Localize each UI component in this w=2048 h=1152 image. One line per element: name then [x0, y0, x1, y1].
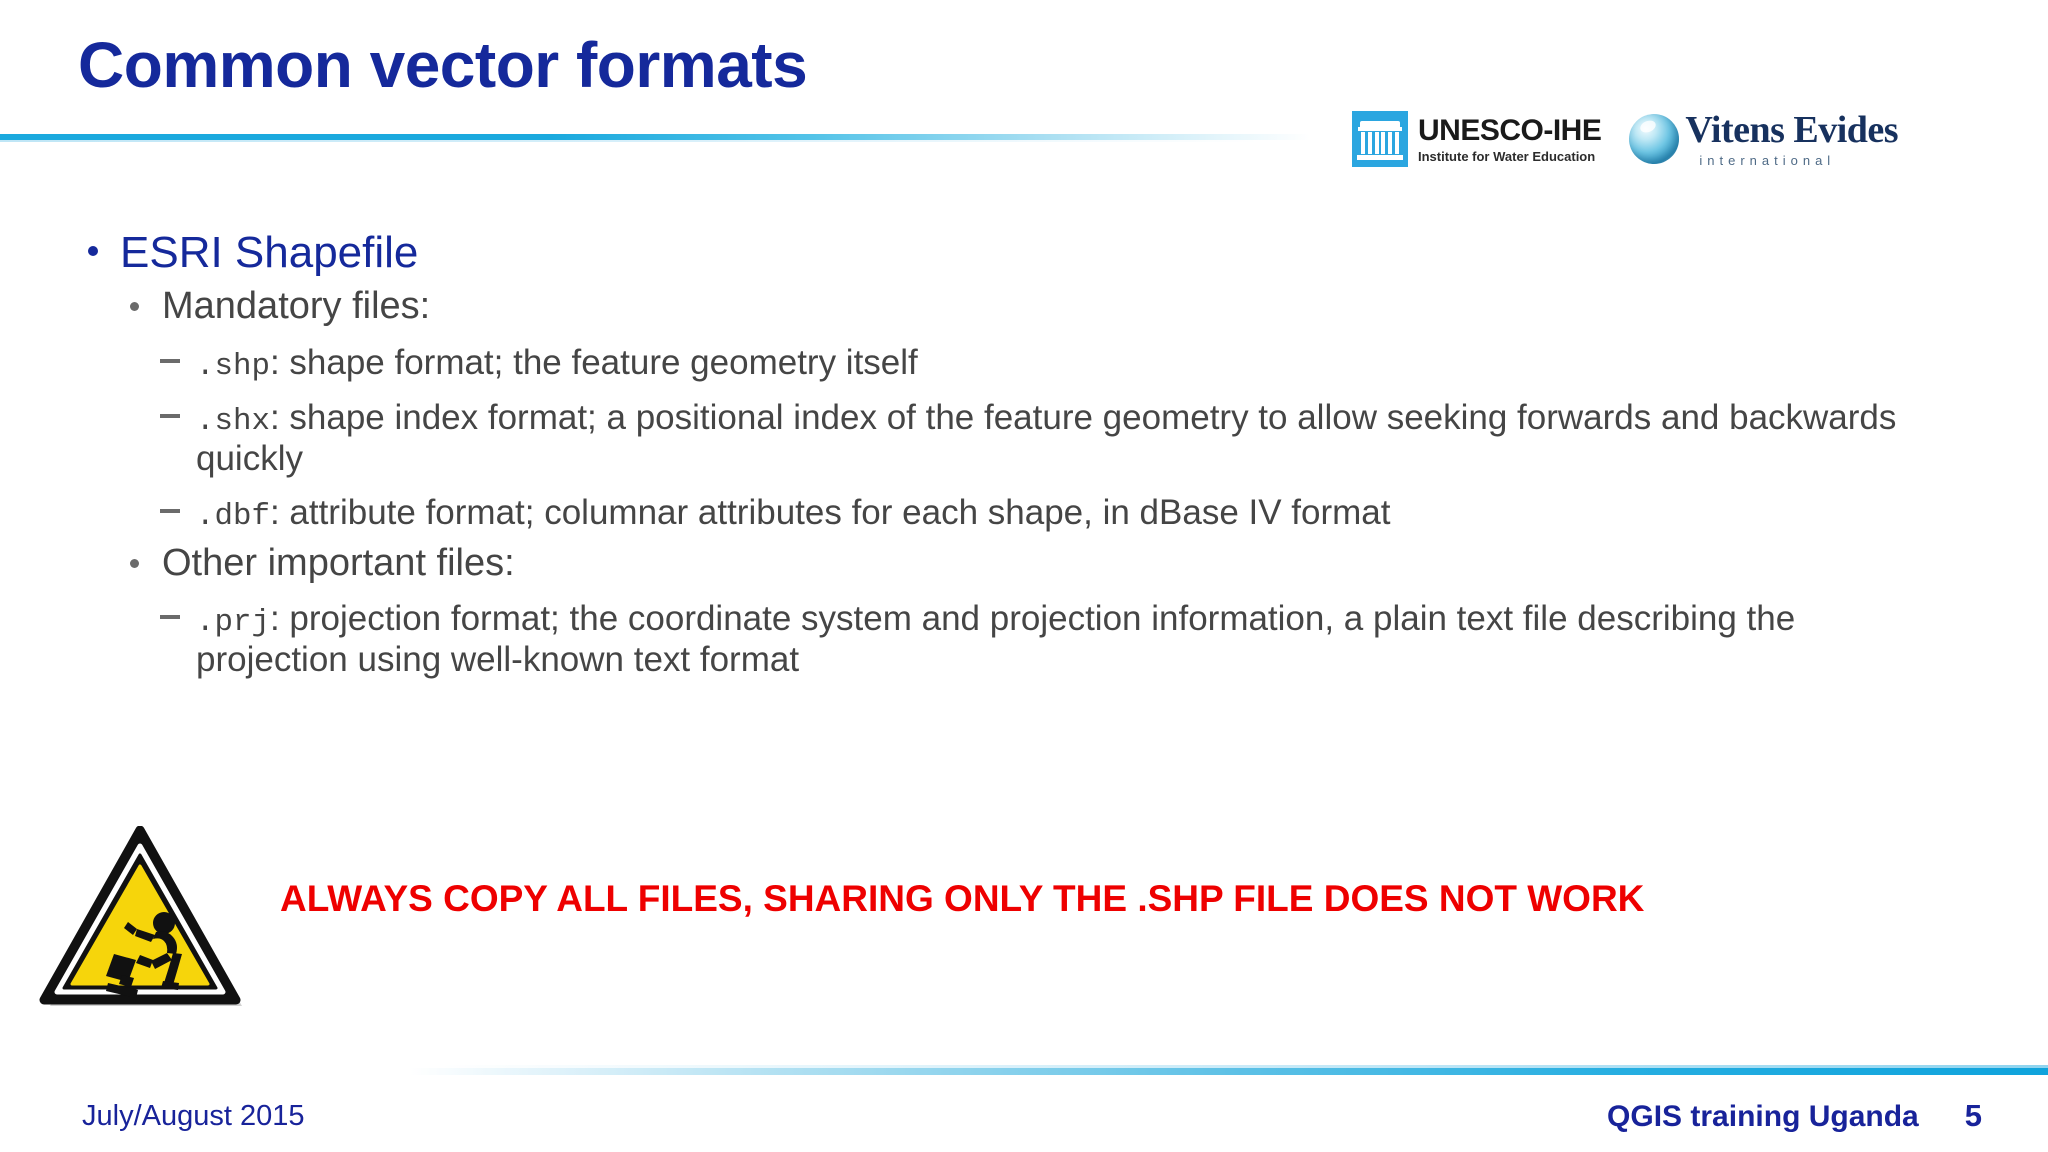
- vitens-name: Vitens Evides: [1685, 111, 1898, 149]
- bullet-other-important-files-label: Other important files:: [162, 542, 515, 584]
- shx-description: : shape index format; a positional index…: [196, 398, 1896, 478]
- footer-divider: [410, 1068, 2048, 1075]
- warning-triangle-icon: [36, 826, 248, 1018]
- warning-message: ALWAYS COPY ALL FILES, SHARING ONLY THE …: [280, 878, 1644, 921]
- dash-icon: [160, 615, 180, 619]
- bullet-shp: .shp: shape format; the feature geometry…: [78, 343, 1898, 384]
- globe-icon: [1629, 114, 1679, 164]
- shp-extension: .shp: [196, 349, 270, 384]
- warning-block: ALWAYS COPY ALL FILES, SHARING ONLY THE …: [36, 826, 1916, 1018]
- bullet-other-important-files: Other important files:: [78, 542, 1898, 585]
- unesco-subtitle: Institute for Water Education: [1418, 150, 1601, 163]
- dbf-extension: .dbf: [196, 499, 270, 534]
- unesco-temple-icon: [1352, 111, 1408, 167]
- shp-description: : shape format; the feature geometry its…: [270, 343, 918, 382]
- dash-icon: [160, 359, 180, 363]
- bullet-esri-shapefile-label: ESRI Shapefile: [120, 228, 418, 277]
- vitens-evides-logo: Vitens Evides international: [1629, 111, 1898, 167]
- logo-band: UNESCO-IHE Institute for Water Education…: [1352, 100, 2032, 178]
- shx-extension: .shx: [196, 404, 270, 439]
- bullet-dot-icon: [130, 559, 139, 568]
- header-divider: [0, 134, 1310, 140]
- unesco-wordmark: UNESCO-IHE Institute for Water Education: [1418, 116, 1601, 163]
- bullet-prj: .prj: projection format; the coordinate …: [78, 599, 1898, 680]
- bullet-shx: .shx: shape index format; a positional i…: [78, 398, 1898, 479]
- bullet-mandatory-files-label: Mandatory files:: [162, 285, 430, 327]
- dash-icon: [160, 414, 180, 418]
- unesco-ihe-logo: UNESCO-IHE Institute for Water Education: [1352, 111, 1601, 167]
- slide-root: Common vector formats UNESCO-IHE Institu…: [0, 0, 2048, 1152]
- footer-course-title: QGIS training Uganda: [1607, 1100, 1919, 1134]
- vitens-subtitle: international: [1699, 154, 1898, 167]
- bullet-dot-icon: [130, 302, 139, 311]
- footer-date: July/August 2015: [82, 1100, 304, 1133]
- unesco-name: UNESCO-IHE: [1418, 116, 1601, 146]
- bullet-dot-icon: [88, 246, 98, 256]
- footer-right-group: QGIS training Uganda 5: [1607, 1098, 1982, 1134]
- dash-icon: [160, 509, 180, 513]
- bullet-dbf: .dbf: attribute format; columnar attribu…: [78, 493, 1898, 534]
- bullet-esri-shapefile: ESRI Shapefile: [78, 228, 1898, 277]
- prj-description: : projection format; the coordinate syst…: [196, 599, 1795, 679]
- vitens-wordmark: Vitens Evides international: [1685, 111, 1898, 167]
- slide-body: ESRI Shapefile Mandatory files: .shp: sh…: [78, 228, 1898, 680]
- page-title: Common vector formats: [78, 28, 807, 102]
- dbf-description: : attribute format; columnar attributes …: [270, 493, 1391, 532]
- prj-extension: .prj: [196, 605, 270, 640]
- slide-page-number: 5: [1965, 1098, 1982, 1134]
- header-divider-highlight: [0, 140, 1260, 142]
- bullet-mandatory-files: Mandatory files:: [78, 285, 1898, 328]
